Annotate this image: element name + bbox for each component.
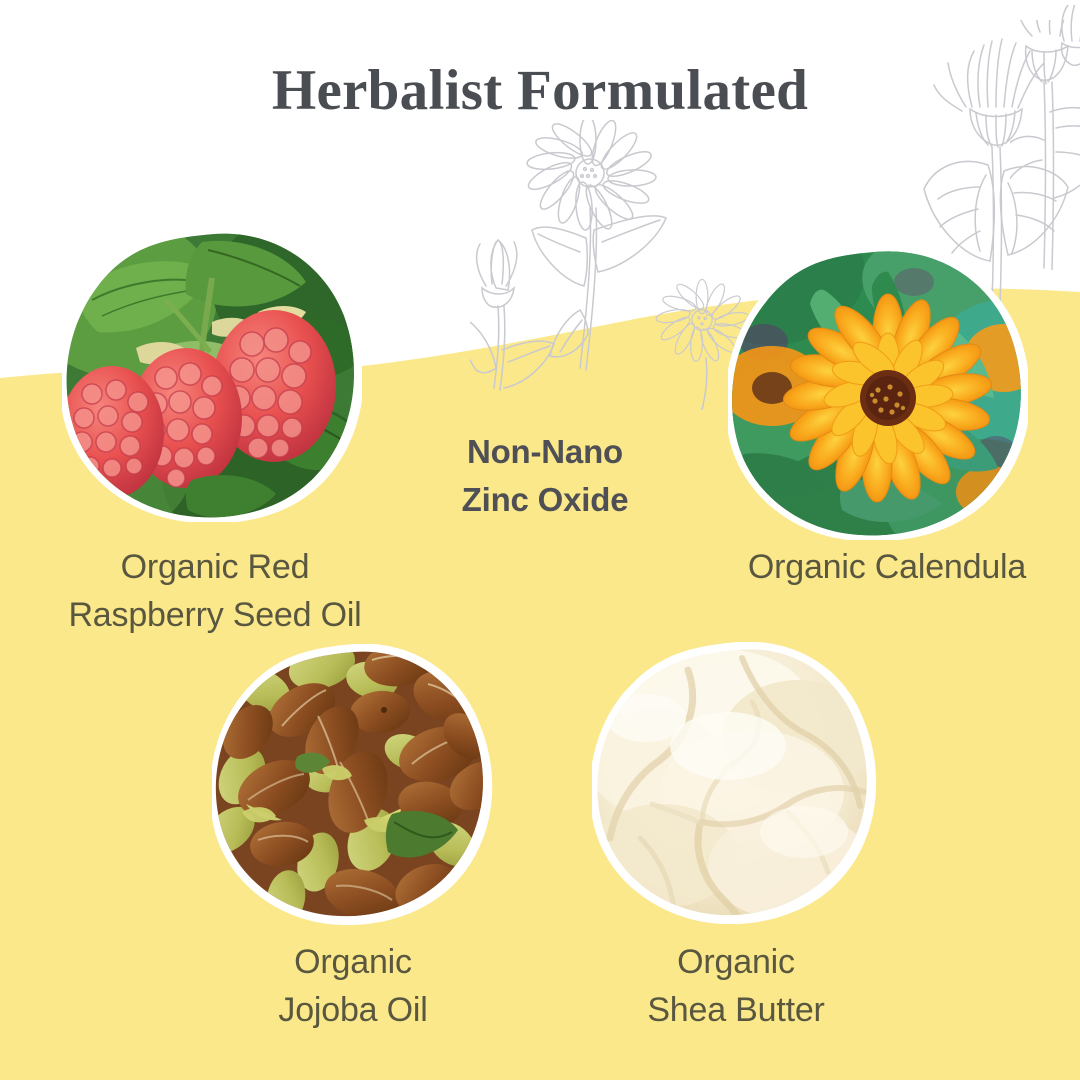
poster-title: Herbalist Formulated bbox=[0, 58, 1080, 123]
ingredient-image-jojoba-oil bbox=[212, 644, 494, 926]
background-yellow-band bbox=[0, 0, 1080, 1080]
ingredient-label-jojoba-oil: Organic Jojoba Oil bbox=[198, 938, 508, 1035]
ingredient-image-calendula bbox=[728, 246, 1028, 540]
ingredient-label-red-raspberry-seed-oil: Organic Red Raspberry Seed Oil bbox=[20, 543, 410, 640]
callout-non-nano-zinc-oxide: Non-Nano Zinc Oxide bbox=[400, 428, 690, 524]
poster-canvas: Herbalist Formulated bbox=[0, 0, 1080, 1080]
ingredient-label-calendula: Organic Calendula bbox=[712, 543, 1062, 591]
ingredient-image-shea-butter bbox=[592, 642, 878, 924]
ingredient-label-shea-butter: Organic Shea Butter bbox=[568, 938, 904, 1035]
ingredient-image-red-raspberry-seed-oil bbox=[62, 228, 362, 522]
